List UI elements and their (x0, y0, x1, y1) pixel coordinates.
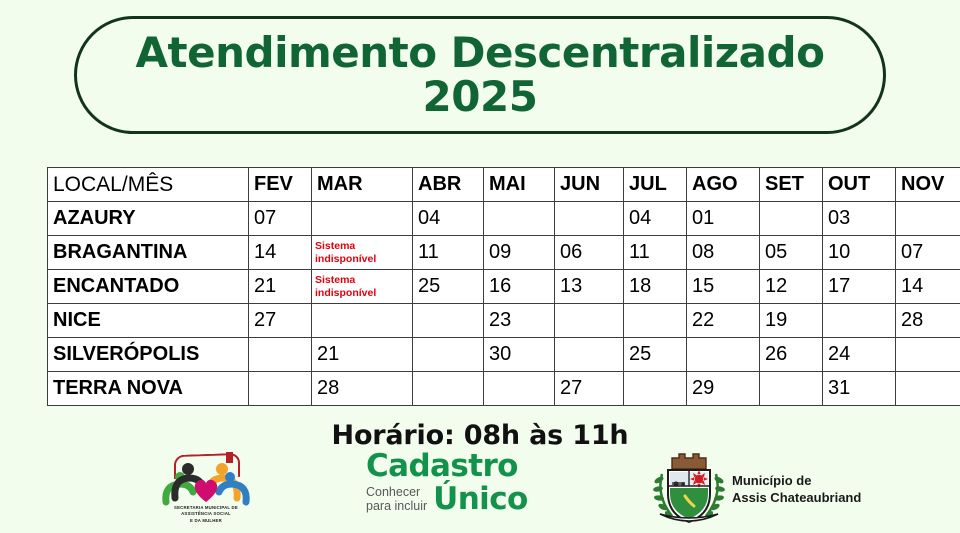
cell-terra-nova-fev (249, 372, 312, 406)
cell-bragantina-set: 05 (760, 236, 823, 270)
cell-nice-jul (624, 304, 687, 338)
poster-page: Atendimento Descentralizado 2025 LOCAL/M… (0, 0, 960, 533)
cell-silveropolis-ago (687, 338, 760, 372)
footer-logos: SECRETARIA MUNICIPAL DE ASSISTÊNCIA SOCI… (0, 452, 960, 533)
cell-encantado-ago: 15 (687, 270, 760, 304)
municipio-name: Município de Assis Chateaubriand (732, 472, 861, 506)
cell-silveropolis-mai: 30 (484, 338, 555, 372)
cell-nice-out (823, 304, 896, 338)
column-header-abr: ABR (413, 168, 484, 202)
cell-silveropolis-set: 26 (760, 338, 823, 372)
cell-silveropolis-abr (413, 338, 484, 372)
cell-azaury-abr: 04 (413, 202, 484, 236)
cell-bragantina-jun: 06 (555, 236, 624, 270)
cell-terra-nova-jun: 27 (555, 372, 624, 406)
column-header-fev: FEV (249, 168, 312, 202)
cell-azaury-out: 03 (823, 202, 896, 236)
cell-silveropolis-fev (249, 338, 312, 372)
column-header-out: OUT (823, 168, 896, 202)
cell-bragantina-mar-unavailable: Sistema indisponível (312, 236, 413, 270)
cell-encantado-fev: 21 (249, 270, 312, 304)
cell-azaury-ago: 01 (687, 202, 760, 236)
cell-encantado-jul: 18 (624, 270, 687, 304)
cell-terra-nova-mar: 28 (312, 372, 413, 406)
column-header-jul: JUL (624, 168, 687, 202)
cadastro-tagline: Conhecer para incluir (366, 485, 427, 515)
table-row: BRAGANTINA 14 Sistema indisponível 11 09… (48, 236, 960, 270)
cell-nice-jun (555, 304, 624, 338)
cell-bragantina-fev: 14 (249, 236, 312, 270)
title-banner: Atendimento Descentralizado 2025 (74, 16, 886, 134)
table-row: SILVERÓPOLIS 21 30 25 26 24 (48, 338, 960, 372)
schedule-table: LOCAL/MÊS FEV MAR ABR MAI JUN JUL AGO SE… (47, 167, 960, 406)
cell-encantado-jun: 13 (555, 270, 624, 304)
row-label-terra-nova: TERRA NOVA (48, 372, 249, 406)
cell-silveropolis-jul: 25 (624, 338, 687, 372)
cell-azaury-fev: 07 (249, 202, 312, 236)
cell-nice-set: 19 (760, 304, 823, 338)
cell-nice-mai: 23 (484, 304, 555, 338)
cell-encantado-nov: 14 (896, 270, 960, 304)
cell-encantado-abr: 25 (413, 270, 484, 304)
row-label-bragantina: BRAGANTINA (48, 236, 249, 270)
table-row: AZAURY 07 04 04 01 03 (48, 202, 960, 236)
cell-nice-nov: 28 (896, 304, 960, 338)
cell-bragantina-jul: 11 (624, 236, 687, 270)
table-row: TERRA NOVA 28 27 29 31 (48, 372, 960, 406)
cell-nice-ago: 22 (687, 304, 760, 338)
cell-silveropolis-out: 24 (823, 338, 896, 372)
cell-terra-nova-nov (896, 372, 960, 406)
table-row: ENCANTADO 21 Sistema indisponível 25 16 … (48, 270, 960, 304)
cell-azaury-jun (555, 202, 624, 236)
cell-terra-nova-set (760, 372, 823, 406)
column-header-mar: MAR (312, 168, 413, 202)
municipio-assis-chateaubriand-logo: Município de Assis Chateaubriand (650, 452, 880, 530)
cell-silveropolis-jun (555, 338, 624, 372)
cell-encantado-mai: 16 (484, 270, 555, 304)
secretaria-assistencia-social-logo: SECRETARIA MUNICIPAL DE ASSISTÊNCIA SOCI… (148, 452, 264, 530)
cell-encantado-out: 17 (823, 270, 896, 304)
table-header-row: LOCAL/MÊS FEV MAR ABR MAI JUN JUL AGO SE… (48, 168, 960, 202)
cell-terra-nova-jul (624, 372, 687, 406)
column-header-mai: MAI (484, 168, 555, 202)
column-header-set: SET (760, 168, 823, 202)
cadastro-lower-row: Conhecer para incluir Único (366, 484, 546, 515)
row-label-encantado: ENCANTADO (48, 270, 249, 304)
cell-bragantina-abr: 11 (413, 236, 484, 270)
coat-of-arms-icon (650, 452, 728, 528)
table-body: AZAURY 07 04 04 01 03 BRAGANTINA 14 Sist… (48, 202, 960, 406)
cell-silveropolis-nov (896, 338, 960, 372)
cell-bragantina-mai: 09 (484, 236, 555, 270)
horario-text: Horário: 08h às 11h (0, 420, 960, 451)
cell-bragantina-out: 10 (823, 236, 896, 270)
column-header-local: LOCAL/MÊS (48, 168, 249, 202)
cell-nice-fev: 27 (249, 304, 312, 338)
cell-silveropolis-mar: 21 (312, 338, 413, 372)
cell-terra-nova-mai (484, 372, 555, 406)
row-label-silveropolis: SILVERÓPOLIS (48, 338, 249, 372)
column-header-jun: JUN (555, 168, 624, 202)
cell-bragantina-ago: 08 (687, 236, 760, 270)
row-label-azaury: AZAURY (48, 202, 249, 236)
row-label-nice: NICE (48, 304, 249, 338)
cell-azaury-mar (312, 202, 413, 236)
cell-azaury-jul: 04 (624, 202, 687, 236)
column-header-nov: NOV (896, 168, 960, 202)
family-house-heart-icon (156, 452, 256, 507)
secretaria-caption: SECRETARIA MUNICIPAL DE ASSISTÊNCIA SOCI… (148, 505, 264, 524)
cell-azaury-set (760, 202, 823, 236)
cell-nice-mar (312, 304, 413, 338)
page-title: Atendimento Descentralizado 2025 (126, 31, 835, 118)
cadastro-unico-logo: Cadastro Conhecer para incluir Único (366, 451, 546, 527)
cell-encantado-mar-unavailable: Sistema indisponível (312, 270, 413, 304)
cell-bragantina-nov: 07 (896, 236, 960, 270)
cell-terra-nova-abr (413, 372, 484, 406)
cell-nice-abr (413, 304, 484, 338)
family-figures-icon (156, 452, 256, 507)
unico-wordmark: Único (433, 484, 528, 515)
cell-azaury-mai (484, 202, 555, 236)
cadastro-wordmark: Cadastro (366, 451, 546, 482)
column-header-ago: AGO (687, 168, 760, 202)
cell-terra-nova-ago: 29 (687, 372, 760, 406)
cell-encantado-set: 12 (760, 270, 823, 304)
table-header: LOCAL/MÊS FEV MAR ABR MAI JUN JUL AGO SE… (48, 168, 960, 202)
table-row: NICE 27 23 22 19 28 (48, 304, 960, 338)
cell-terra-nova-out: 31 (823, 372, 896, 406)
cell-azaury-nov (896, 202, 960, 236)
